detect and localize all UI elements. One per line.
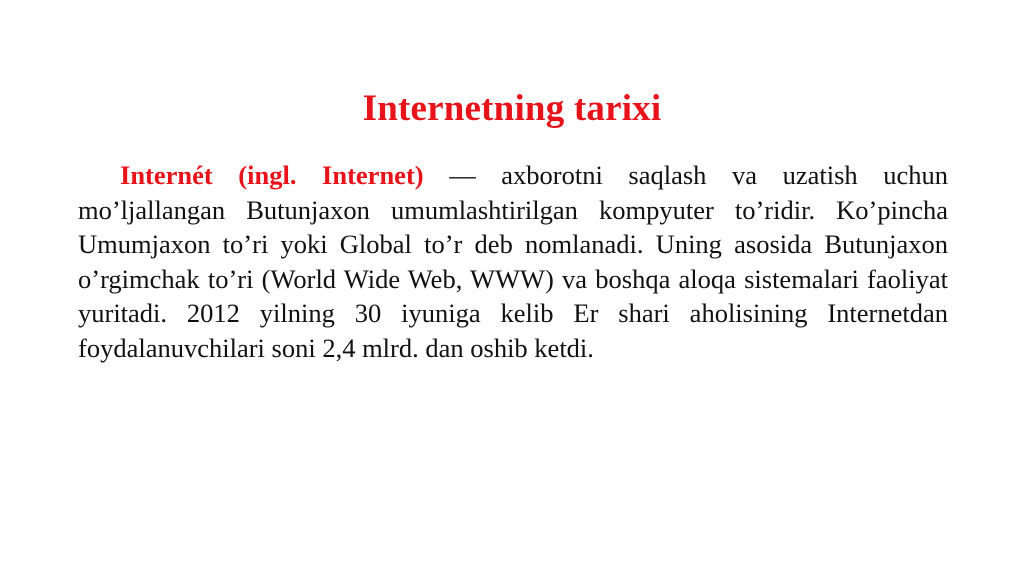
slide-body-content: Internét (ingl. Internet) — axborotni sa…	[78, 158, 948, 366]
page-title: Internetning tarixi	[0, 87, 1024, 131]
presentation-slide: Internetning tarixi Internét (ingl. Inte…	[0, 0, 1024, 576]
body-text: — axborotni saqlash va uzatish uchun mo’…	[78, 160, 948, 363]
lead-term: Internét (ingl. Internet)	[120, 160, 424, 190]
body-paragraph: Internét (ingl. Internet) — axborotni sa…	[78, 158, 948, 366]
